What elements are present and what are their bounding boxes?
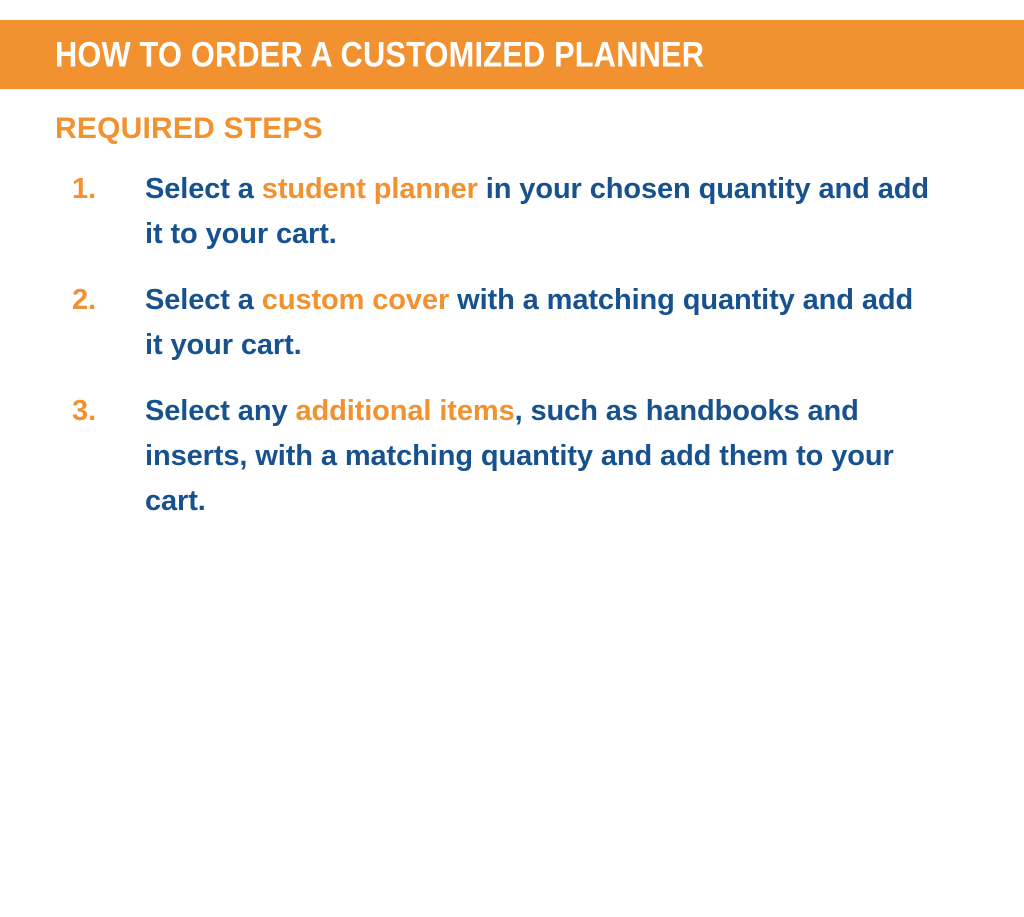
list-item: 1. Select a student planner in your chos… — [0, 167, 1024, 257]
list-item: 2. Select a custom cover with a matching… — [0, 278, 1024, 368]
section-heading-required-steps: REQUIRED STEPS — [55, 114, 323, 144]
step-number: 3. — [72, 389, 132, 434]
page-title: HOW TO ORDER A CUSTOMIZED PLANNER — [55, 37, 704, 72]
step-text-segment: Select a — [145, 284, 262, 316]
header-banner: HOW TO ORDER A CUSTOMIZED PLANNER — [0, 20, 1024, 89]
step-text: Select any additional items, such as han… — [145, 389, 935, 524]
step-text: Select a student planner in your chosen … — [145, 167, 935, 257]
step-text-segment: Select any — [145, 395, 295, 427]
required-steps-list: 1. Select a student planner in your chos… — [0, 167, 1024, 524]
empty-area — [0, 609, 1024, 917]
step-number: 2. — [72, 278, 132, 323]
highlighted-phrase: custom cover — [262, 284, 449, 316]
step-text-segment: Select a — [145, 173, 262, 205]
step-number: 1. — [72, 167, 132, 212]
step-text: Select a custom cover with a matching qu… — [145, 278, 935, 368]
list-item: 3. Select any additional items, such as … — [0, 389, 1024, 524]
page-root: HOW TO ORDER A CUSTOMIZED PLANNER REQUIR… — [0, 0, 1024, 828]
highlighted-phrase: additional items — [295, 395, 514, 427]
highlighted-phrase: student planner — [262, 173, 478, 205]
